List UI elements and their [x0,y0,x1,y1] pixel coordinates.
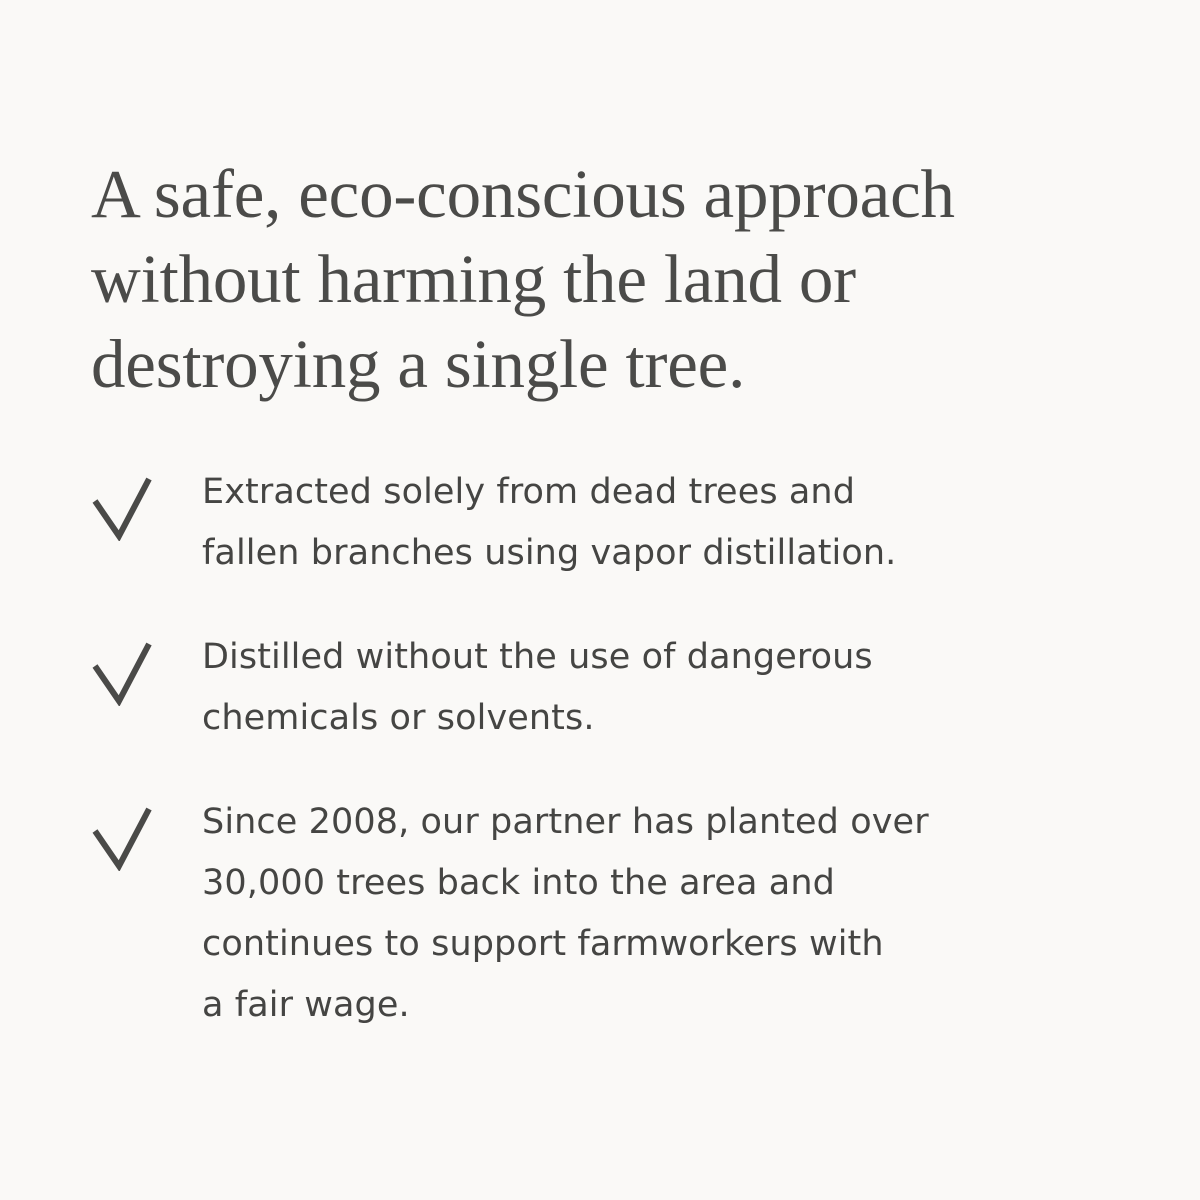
list-item-label: Extracted solely from dead trees and fal… [202,462,1091,584]
list-item: Distilled without the use of dangerous c… [91,627,1091,749]
list-item: Since 2008, our partner has planted over… [91,792,1091,1036]
checkmark-icon [91,638,153,706]
list-item: Extracted solely from dead trees and fal… [91,462,1091,584]
checkmark-icon [91,473,153,541]
page-title: A safe, eco-conscious approach without h… [91,152,1051,407]
promo-slide: A safe, eco-conscious approach without h… [0,0,1200,1200]
list-item-label: Since 2008, our partner has planted over… [202,792,1091,1036]
benefits-list: Extracted solely from dead trees and fal… [91,462,1091,1036]
checkmark-icon [91,803,153,871]
list-item-label: Distilled without the use of dangerous c… [202,627,1091,749]
